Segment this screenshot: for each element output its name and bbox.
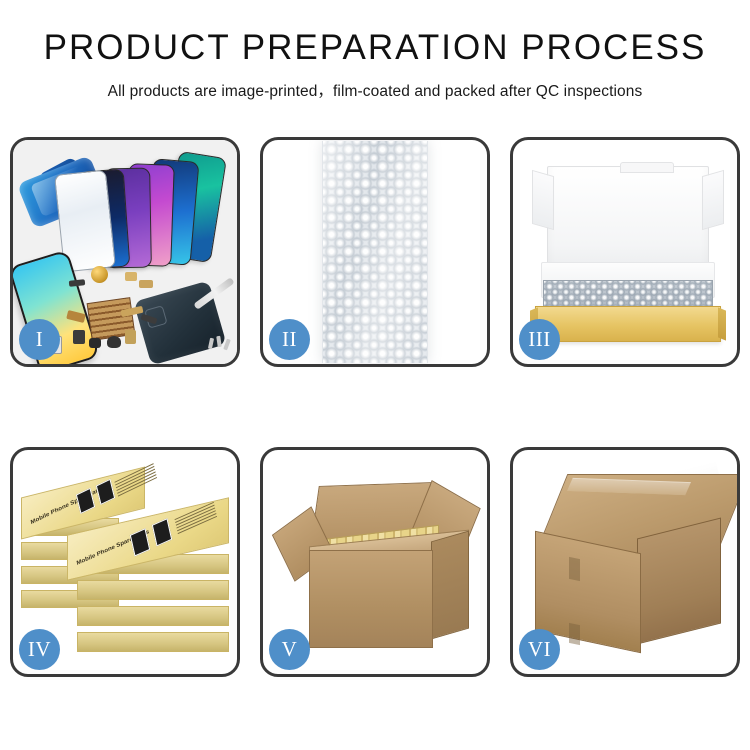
step-panel-1[interactable]: I [10, 137, 240, 367]
carton-seam [569, 623, 580, 645]
spare-part-icon [125, 330, 136, 344]
open-carton-icon [285, 474, 471, 658]
step-badge-5: V [269, 629, 310, 670]
carton-side [637, 518, 721, 645]
spare-part-icon [125, 272, 137, 281]
box-spec-lines [114, 463, 157, 498]
box-screen-image [152, 518, 172, 546]
spare-part-icon [139, 280, 153, 288]
stacked-box [77, 606, 229, 626]
step-badge-2: II [269, 319, 310, 360]
step-panel-5[interactable]: V [260, 447, 490, 677]
bubble-wrap-icon [322, 141, 428, 363]
phone-lineup [75, 154, 235, 274]
page-title: PRODUCT PREPARATION PROCESS [0, 30, 750, 65]
stacked-box [77, 580, 229, 600]
box-screen-image [96, 479, 115, 505]
step-panel-6[interactable]: VI [510, 447, 740, 677]
step-badge-4: IV [19, 629, 60, 670]
spare-part-icon [89, 338, 101, 348]
screws-icon [209, 336, 235, 354]
step-badge-1: I [19, 319, 60, 360]
page-subtitle: All products are image-printed，film-coat… [0, 79, 750, 101]
carton-seam [569, 557, 580, 581]
step-panel-3[interactable]: III [510, 137, 740, 367]
stacked-box [77, 632, 229, 652]
spare-part-icon [107, 336, 121, 348]
carton-front [309, 550, 433, 648]
step-panel-4[interactable]: Mobile Phone Spare Parts Mobile Phone Sp… [10, 447, 240, 677]
mailer-box-icon [529, 166, 725, 346]
step-badge-6: VI [519, 629, 560, 670]
spare-part-icon [73, 330, 85, 344]
mailer-tab [620, 162, 674, 173]
spare-part-icon [91, 266, 108, 283]
mailer-base [535, 306, 721, 342]
carton-side [431, 531, 469, 640]
page-header: PRODUCT PREPARATION PROCESS All products… [0, 0, 750, 101]
step-badge-3: III [519, 319, 560, 360]
step-panel-2[interactable]: II [260, 137, 490, 367]
spare-part-icon [69, 279, 86, 287]
sealed-carton-icon [529, 474, 727, 656]
box-spec-lines [175, 502, 218, 536]
process-steps-grid: I II III [10, 137, 740, 677]
